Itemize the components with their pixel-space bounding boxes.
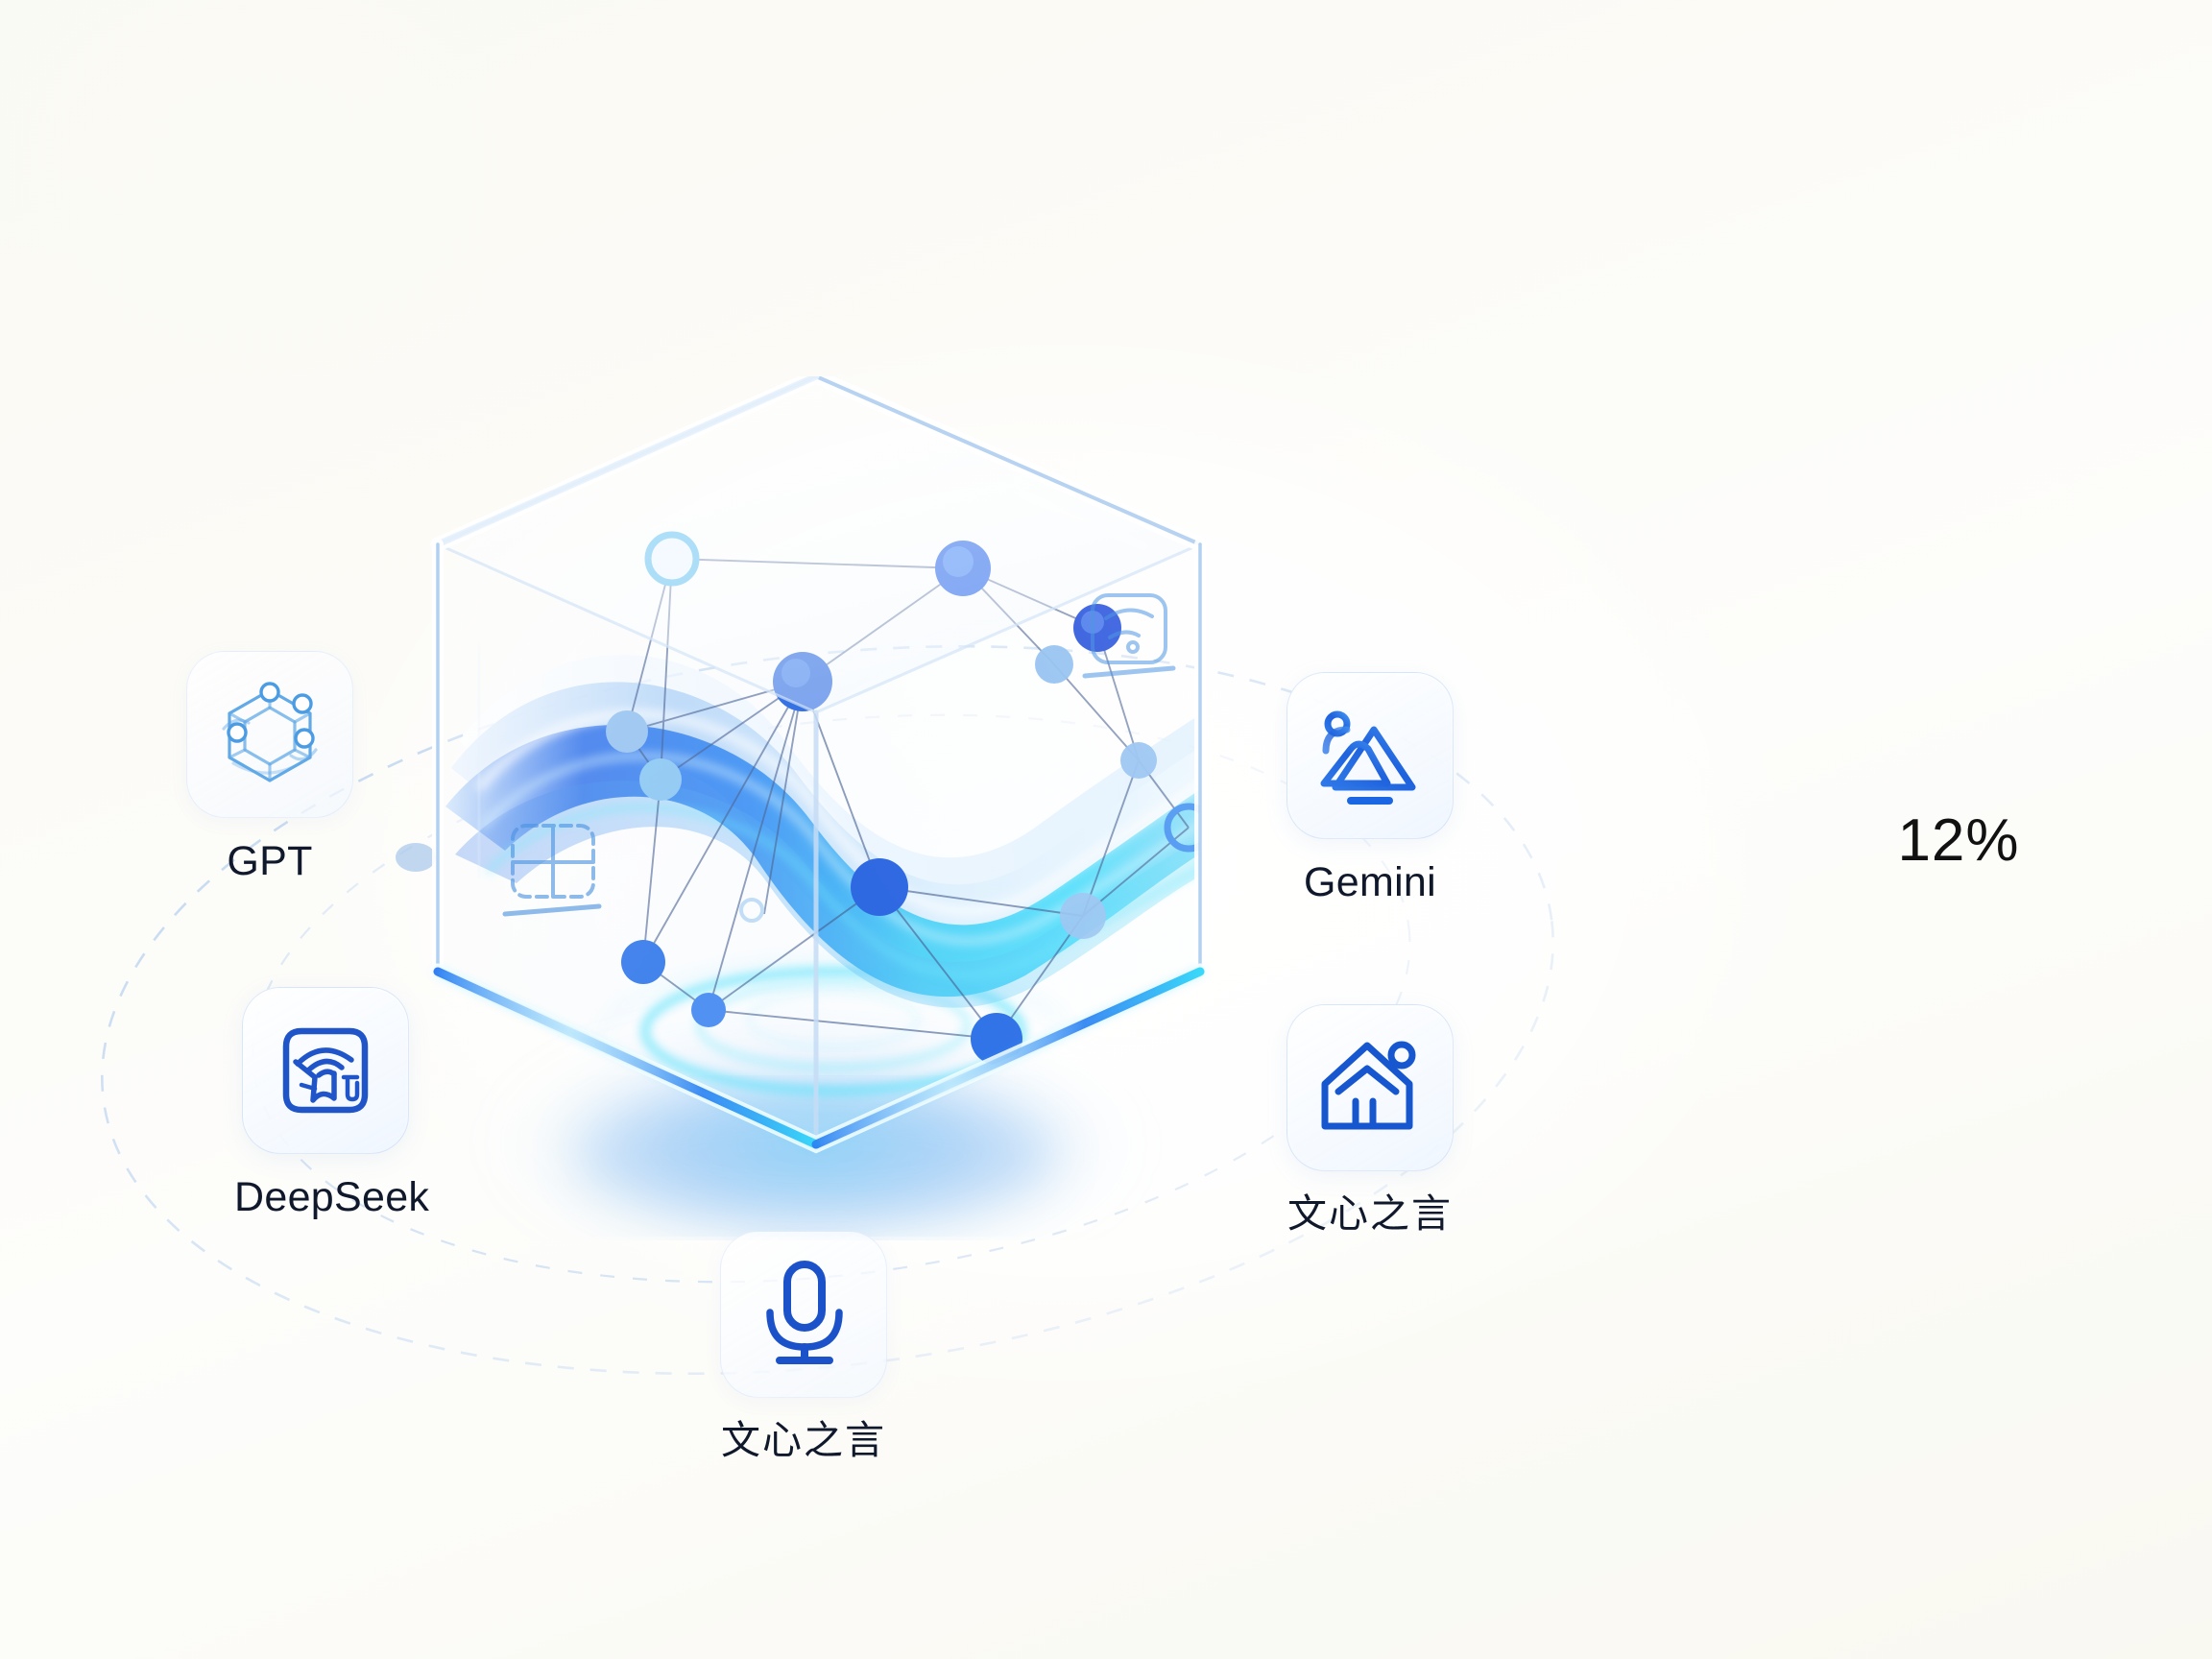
app-node-wenxin-mic[interactable]: 文心之言 bbox=[712, 1231, 895, 1462]
glass-cube bbox=[421, 376, 1217, 1240]
glass-cube-svg bbox=[421, 376, 1217, 1240]
gpt-label: GPT bbox=[179, 839, 361, 884]
hexagon-network-icon bbox=[210, 675, 329, 794]
wenxin-mic-label: 文心之言 bbox=[712, 1419, 895, 1462]
mountain-image-icon bbox=[1312, 699, 1428, 812]
gemini-tile[interactable] bbox=[1286, 672, 1454, 839]
microphone-icon bbox=[751, 1257, 856, 1372]
deepseek-tile[interactable] bbox=[242, 987, 409, 1154]
wenxin-mic-tile[interactable] bbox=[720, 1231, 887, 1398]
app-node-gemini[interactable]: Gemini bbox=[1279, 672, 1461, 905]
house-icon bbox=[1313, 1034, 1427, 1142]
deepseek-label: DeepSeek bbox=[234, 1175, 417, 1220]
canvas-root: GPT DeepSeek bbox=[0, 0, 2212, 1659]
gpt-tile[interactable] bbox=[186, 651, 353, 818]
percent-readout: 12% bbox=[1805, 806, 2112, 875]
whale-signal-icon bbox=[269, 1014, 382, 1127]
wenxin-house-tile[interactable] bbox=[1286, 1004, 1454, 1171]
app-node-gpt[interactable]: GPT bbox=[179, 651, 361, 884]
wenxin-house-label: 文心之言 bbox=[1279, 1192, 1461, 1236]
app-node-deepseek[interactable]: DeepSeek bbox=[234, 987, 417, 1220]
gemini-label: Gemini bbox=[1279, 860, 1461, 905]
app-node-wenxin-house[interactable]: 文心之言 bbox=[1279, 1004, 1461, 1236]
